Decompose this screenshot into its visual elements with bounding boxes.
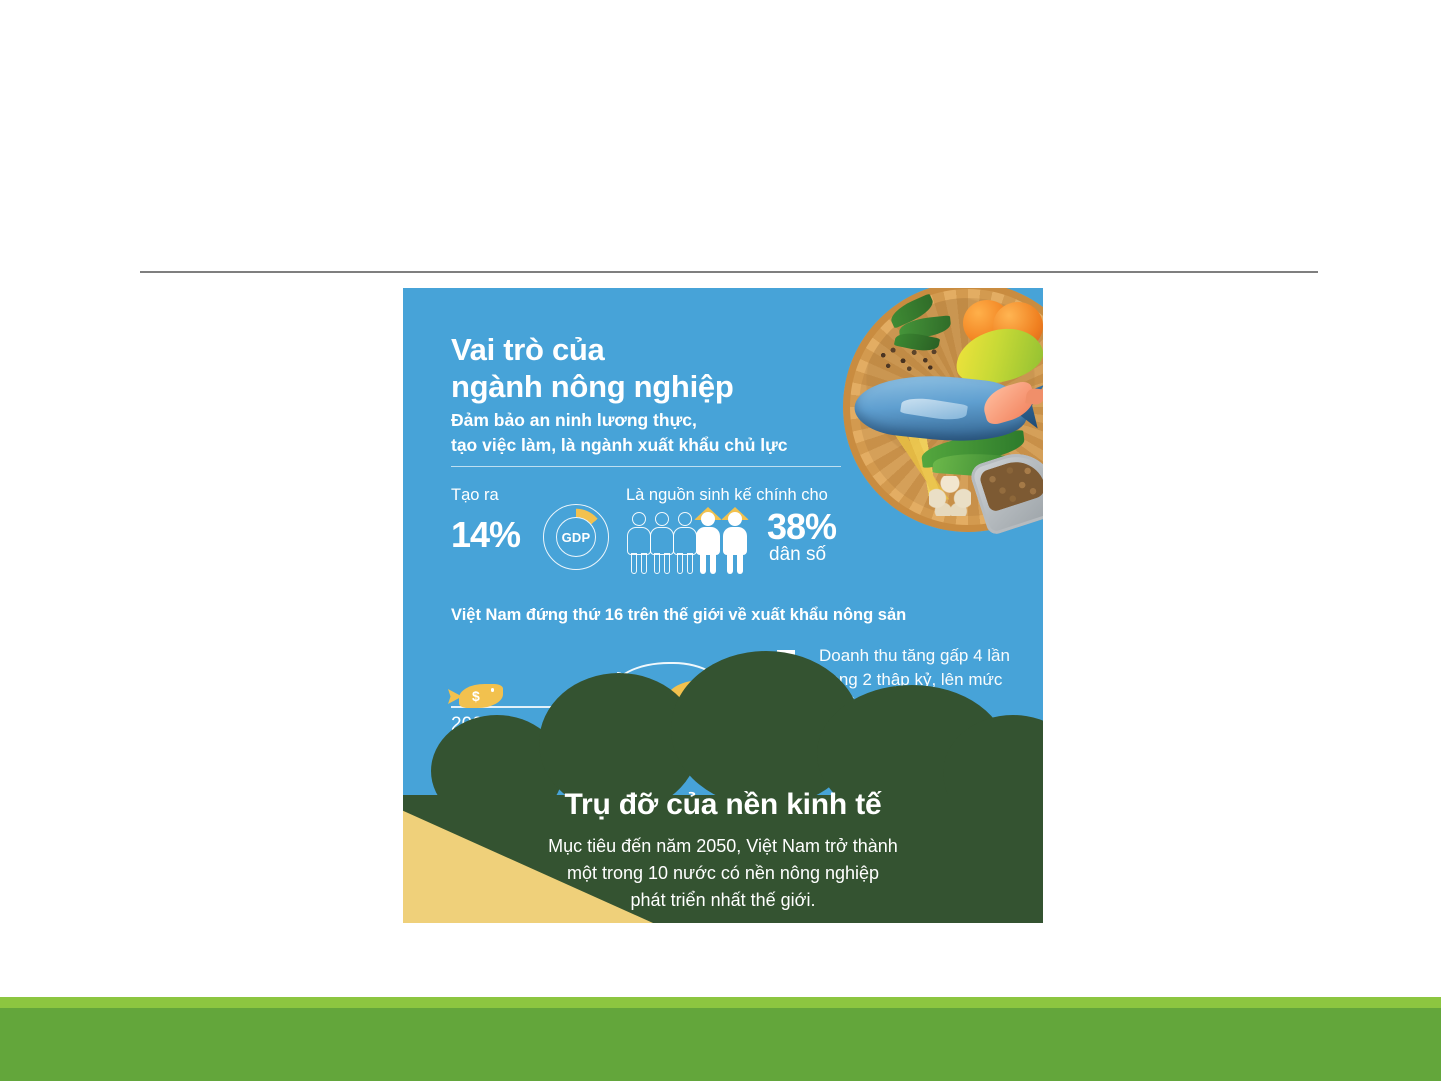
fish-fin-icon bbox=[900, 395, 968, 423]
title-line-1: Vai trò của bbox=[451, 332, 851, 369]
pillar-line-3: phát triển nhất thế giới. bbox=[523, 887, 923, 914]
person-icon bbox=[673, 512, 697, 574]
farmer-person-icon bbox=[723, 512, 747, 574]
subtitle-line-2: tạo việc làm, là ngành xuất khẩu chủ lực bbox=[451, 433, 871, 458]
dollar-symbol: $ bbox=[472, 686, 480, 706]
tea-leaf-icon bbox=[887, 293, 936, 328]
green-leaf-icon bbox=[920, 430, 1026, 468]
footer-band bbox=[0, 1008, 1441, 1081]
person-icon bbox=[627, 512, 651, 574]
orange-fruit-icon bbox=[993, 302, 1043, 350]
pillar-line-1: Mục tiêu đến năm 2050, Việt Nam trở thàn… bbox=[523, 833, 923, 860]
small-fish-icon: $ bbox=[459, 684, 503, 708]
title-line-2: ngành nông nghiệp bbox=[451, 369, 851, 406]
fish-icon bbox=[852, 367, 1030, 449]
section-divider bbox=[451, 466, 841, 467]
population-stat-label: Là nguồn sinh kế chính cho bbox=[626, 486, 828, 505]
population-stat-value: 38% bbox=[767, 506, 836, 548]
key-statistics-row: Tạo ra 14% GDP Là nguồn sinh kế chính ch… bbox=[451, 486, 1011, 586]
farmer-person-icon bbox=[696, 512, 720, 574]
mango-icon bbox=[951, 322, 1043, 390]
fish-tail-icon bbox=[998, 379, 1043, 428]
peppercorn-icon bbox=[877, 344, 939, 372]
gdp-donut-label: GDP bbox=[556, 517, 596, 557]
infographic-panel: Vai trò của ngành nông nghiệp Đảm bảo an… bbox=[403, 288, 1043, 923]
population-stat-unit: dân số bbox=[769, 544, 826, 566]
gdp-stat-value: 14% bbox=[451, 514, 520, 556]
subtitle-line-1: Đảm bảo an ninh lương thực, bbox=[451, 408, 871, 433]
shrimp-icon bbox=[979, 379, 1038, 426]
gdp-stat-label: Tạo ra bbox=[451, 486, 499, 505]
growth-note-line-1: Doanh thu tăng gấp 4 lần bbox=[819, 644, 1019, 668]
infographic-title: Vai trò của ngành nông nghiệp bbox=[451, 332, 851, 405]
orange-fruit-icon bbox=[963, 300, 1011, 346]
tea-leaf-icon bbox=[894, 330, 940, 355]
green-leaf-icon bbox=[932, 451, 1025, 479]
population-pictogram bbox=[627, 504, 757, 574]
infographic-subtitle: Đảm bảo an ninh lương thực, tạo việc làm… bbox=[451, 408, 871, 458]
export-rank-text: Việt Nam đứng thứ 16 trên thế giới về xu… bbox=[451, 606, 1011, 625]
tea-leaf-icon bbox=[898, 315, 952, 339]
slide-divider-rule bbox=[140, 271, 1318, 273]
pillar-headline: Trụ đỡ của nền kinh tế bbox=[403, 788, 1043, 822]
pillar-line-2: một trong 10 nước có nền nông nghiệp bbox=[523, 860, 923, 887]
pillar-description: Mục tiêu đến năm 2050, Việt Nam trở thàn… bbox=[523, 833, 923, 914]
footer-accent-band bbox=[0, 997, 1441, 1008]
person-icon bbox=[650, 512, 674, 574]
